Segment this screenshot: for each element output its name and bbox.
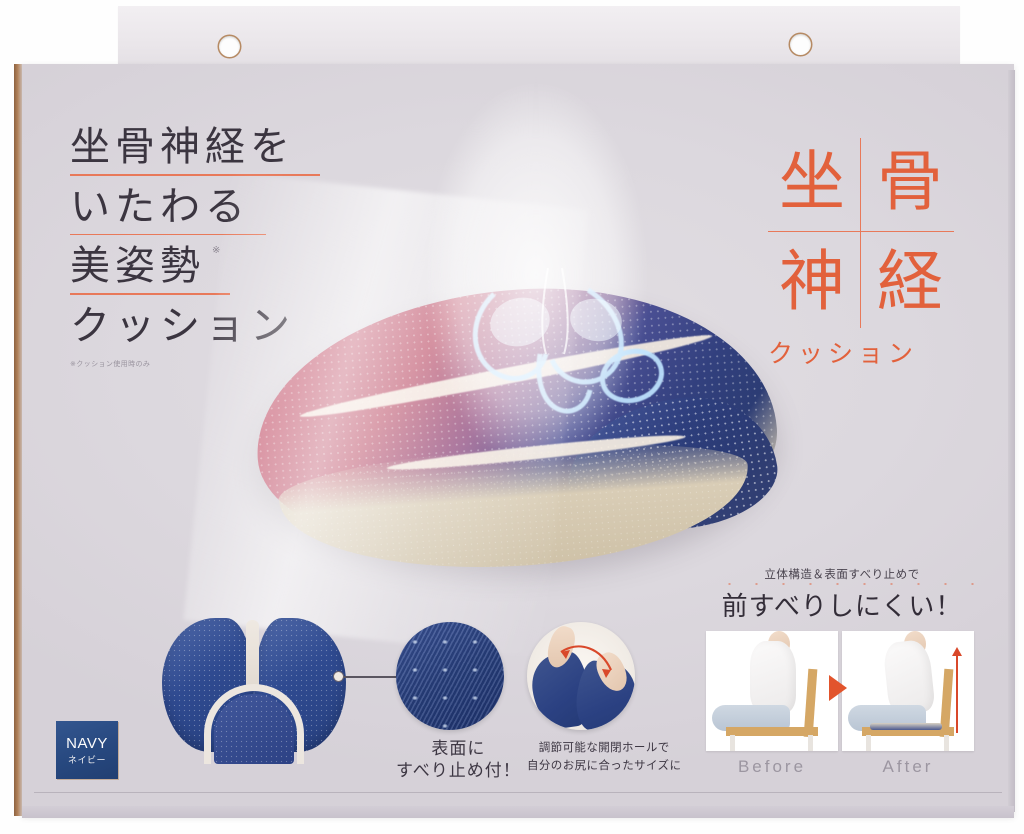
- hands-adjusting-cushion-circle-icon: [527, 622, 635, 730]
- callout-leader-dot: [334, 672, 343, 681]
- after-cushion-strip: [870, 723, 942, 730]
- before-chair-leg-front: [730, 735, 735, 751]
- carton-edge-right: [1008, 70, 1015, 812]
- before-after-arrow-icon: [829, 675, 847, 701]
- hang-hole-left: [219, 36, 240, 57]
- logo-char-1: 坐: [768, 136, 856, 228]
- posture-up-arrow-icon: [956, 655, 958, 733]
- logo-char-4: 経: [866, 236, 954, 328]
- feature-grip-surface: 表面に すべり止め付！: [396, 622, 521, 782]
- promo-emphasis-dots: [706, 581, 978, 587]
- after-chair-leg-back: [944, 735, 949, 751]
- headline-rule-1: [70, 174, 320, 176]
- headline-line-1: 坐骨神経を: [70, 122, 340, 176]
- product-top-view: [158, 612, 350, 764]
- feature-hole-caption: 調節可能な開閉ホールで 自分のお尻に合ったサイズに: [527, 738, 681, 774]
- color-badge-name-jp: ネイビー: [68, 753, 106, 766]
- headline-rule-3: [70, 293, 230, 295]
- after-photo: [842, 631, 974, 751]
- promo-title-text: 前すべりしにくい！: [722, 592, 963, 622]
- feature-grip-caption: 表面に すべり止め付！: [396, 738, 521, 782]
- product-logo: 坐 骨 神 経 クッション: [768, 136, 958, 370]
- before-label: Before: [706, 757, 838, 777]
- carton-bottom-edge: [22, 806, 1014, 818]
- color-badge-navy: NAVY ネイビー: [56, 721, 118, 779]
- before-after-labels: Before After: [706, 757, 978, 777]
- feature-grip-caption-line-1: 表面に: [396, 738, 521, 760]
- after-label: After: [842, 757, 974, 777]
- cushion-center-groove: [246, 620, 259, 690]
- feature-adjustable-hole: 調節可能な開閉ホールで 自分のお尻に合ったサイズに: [527, 622, 681, 774]
- headline-superscript: ※: [212, 245, 220, 256]
- ghost-body-silhouette: [386, 60, 686, 490]
- after-torso: [882, 639, 935, 715]
- before-chair-seat: [726, 727, 818, 736]
- after-chair-leg-front: [866, 735, 871, 751]
- logo-subtitle: クッション: [768, 334, 958, 370]
- hero-cushion-image: [236, 250, 796, 610]
- carton-fold-line: [34, 792, 1002, 793]
- before-chair-leg-back: [808, 735, 813, 751]
- fabric-texture-circle-icon: [396, 622, 504, 730]
- before-photo: [706, 631, 838, 751]
- promo-subtitle: 立体構造＆表面すべり止めで: [706, 566, 978, 582]
- color-badge-name-en: NAVY: [66, 735, 108, 752]
- logo-divider-vertical: [860, 138, 861, 328]
- hang-hole-right: [790, 34, 811, 55]
- before-torso: [750, 641, 796, 713]
- logo-divider-horizontal: [768, 231, 954, 232]
- promo-title: 前すべりしにくい！: [706, 586, 978, 623]
- package-photo: 坐骨神経を いたわる 美姿勢 ※ クッション ※クッション使用時のみ 坐 骨 神…: [0, 0, 1024, 834]
- feature-hole-caption-line-2: 自分のお尻に合ったサイズに: [527, 756, 681, 774]
- double-arrow-icon: [527, 622, 635, 730]
- feature-grip-caption-line-2: すべり止め付！: [396, 760, 521, 782]
- headline-text-1: 坐骨神経を: [70, 122, 340, 172]
- before-after-photos: [706, 631, 978, 751]
- texture-grip-dots: [396, 622, 504, 730]
- promo-block: 立体構造＆表面すべり止めで 前すべりしにくい！: [706, 566, 978, 777]
- logo-char-2: 骨: [866, 136, 954, 228]
- feature-hole-caption-line-1: 調節可能な開閉ホールで: [527, 738, 681, 756]
